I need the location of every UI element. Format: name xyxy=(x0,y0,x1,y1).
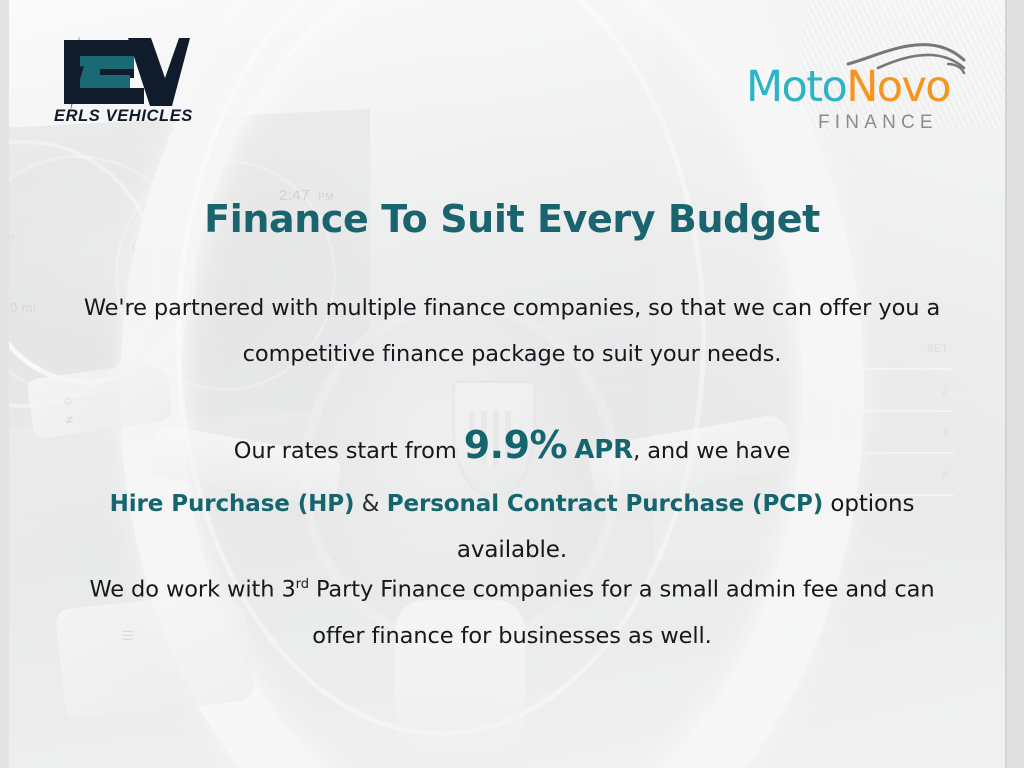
motonovo-wordmark: MotoNovo xyxy=(746,66,976,109)
intro-paragraph: We're partnered with multiple finance co… xyxy=(62,285,962,377)
moto-word-part: Moto xyxy=(746,62,846,112)
novo-word-part: Novo xyxy=(846,62,950,112)
products-paragraph: Hire Purchase (HP) & Personal Contract P… xyxy=(62,481,962,573)
product-hire-purchase: Hire Purchase (HP) xyxy=(110,491,355,517)
apr-rate-value: 9.9% xyxy=(464,423,567,467)
product-pcp: Personal Contract Purchase (PCP) xyxy=(387,491,823,517)
erls-vehicles-logo[interactable]: ERLS VEHICLES xyxy=(50,34,190,134)
rates-paragraph: Our rates start from 9.9% APR, and we ha… xyxy=(62,418,962,478)
motonovo-finance-logo[interactable]: MotoNovo FINANCE xyxy=(746,38,976,138)
product-separator: & xyxy=(362,491,380,517)
apr-label: APR xyxy=(574,435,633,465)
page-edge-right xyxy=(1007,0,1024,768)
finance-promo-slide: h Occupant fo Fas 0 mi 2:47 PM SET 2 3 4… xyxy=(0,0,1024,768)
page-title: Finance To Suit Every Budget xyxy=(0,197,1024,241)
motonovo-finance-subtitle: FINANCE xyxy=(818,112,938,134)
rates-suffix: , and we have xyxy=(633,438,790,464)
rates-prefix: Our rates start from xyxy=(234,438,457,464)
ev-monogram-icon xyxy=(50,34,190,114)
third-party-text-start: We do work with 3 xyxy=(89,577,295,603)
page-edge-left xyxy=(0,0,9,768)
ordinal-suffix: rd xyxy=(296,577,309,592)
third-party-paragraph: We do work with 3rd Party Finance compan… xyxy=(62,562,962,659)
third-party-text-end: Party Finance companies for a small admi… xyxy=(309,577,935,649)
erls-vehicles-wordmark: ERLS VEHICLES xyxy=(54,107,193,126)
